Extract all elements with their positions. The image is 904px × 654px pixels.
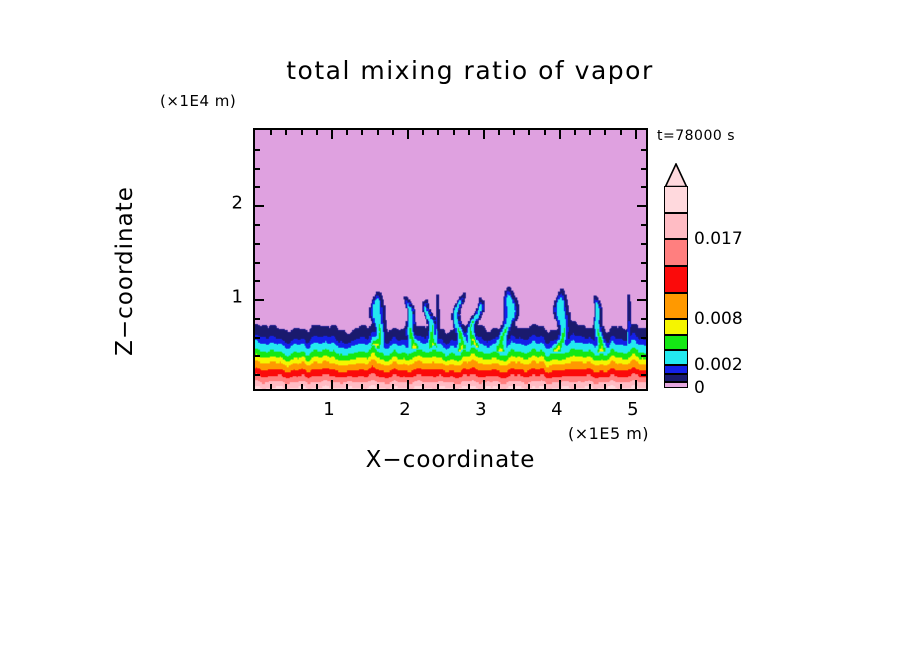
- x-tick-label: 1: [323, 399, 334, 420]
- tick-mark: [468, 384, 470, 389]
- x-tick-label: 2: [399, 399, 410, 420]
- tick-mark: [270, 384, 272, 389]
- tick-mark: [255, 224, 260, 226]
- y-axis-title: Z−coordinate: [112, 141, 138, 401]
- tick-mark: [589, 130, 591, 135]
- tick-mark: [255, 318, 260, 320]
- tick-mark: [641, 243, 646, 245]
- tick-mark: [641, 168, 646, 170]
- colorbar-tick-label: 0.008: [694, 309, 743, 329]
- tick-mark: [453, 384, 455, 389]
- tick-mark: [528, 130, 530, 135]
- tick-mark: [422, 130, 424, 135]
- tick-mark: [270, 130, 272, 135]
- tick-mark: [361, 384, 363, 389]
- tick-mark: [437, 130, 439, 135]
- colorbar-tick-label: 0.017: [694, 229, 743, 249]
- tick-mark: [301, 130, 303, 135]
- tick-mark: [346, 130, 348, 135]
- tick-mark: [255, 186, 260, 188]
- tick-mark: [544, 384, 546, 389]
- x-tick-label: 4: [551, 399, 562, 420]
- tick-mark: [392, 384, 394, 389]
- x-axis-title: X−coordinate: [253, 447, 648, 473]
- tick-mark: [377, 130, 379, 135]
- colorbar-band: [664, 213, 688, 240]
- tick-mark: [641, 337, 646, 339]
- tick-mark: [620, 384, 622, 389]
- colorbar-band: [664, 350, 688, 365]
- tick-mark: [407, 130, 409, 139]
- colorbar-band: [664, 374, 688, 382]
- tick-mark: [407, 380, 409, 389]
- tick-mark: [483, 130, 485, 139]
- tick-mark: [513, 384, 515, 389]
- tick-mark: [641, 355, 646, 357]
- tick-mark: [468, 130, 470, 135]
- tick-mark: [604, 130, 606, 135]
- tick-mark: [301, 384, 303, 389]
- x-tick-label: 5: [627, 399, 638, 420]
- tick-mark: [604, 384, 606, 389]
- colorbar-extend-arrow-icon: [664, 163, 688, 187]
- tick-mark: [641, 224, 646, 226]
- contour-field-canvas: [255, 130, 646, 389]
- colorbar-band: [664, 239, 688, 266]
- y-axis-unit-label: (×1E4 m): [160, 92, 236, 110]
- x-axis-unit-label: (×1E5 m): [568, 424, 649, 443]
- tick-mark: [392, 130, 394, 135]
- tick-mark: [255, 337, 260, 339]
- tick-mark: [637, 299, 646, 301]
- tick-mark: [361, 130, 363, 135]
- tick-mark: [255, 243, 260, 245]
- tick-mark: [589, 384, 591, 389]
- tick-mark: [255, 168, 260, 170]
- colorbar: [664, 186, 688, 388]
- tick-mark: [377, 384, 379, 389]
- page-title: total mixing ratio of vapor: [240, 56, 700, 85]
- tick-mark: [559, 380, 561, 389]
- y-tick-label: 2: [219, 193, 243, 214]
- tick-mark: [641, 318, 646, 320]
- colorbar-band: [664, 335, 688, 350]
- x-tick-label: 3: [475, 399, 486, 420]
- tick-mark: [255, 262, 260, 264]
- colorbar-tick-label: 0.002: [694, 355, 743, 375]
- colorbar-band: [664, 293, 688, 320]
- tick-mark: [641, 149, 646, 151]
- tick-mark: [528, 384, 530, 389]
- tick-mark: [641, 374, 646, 376]
- tick-mark: [346, 384, 348, 389]
- tick-mark: [331, 130, 333, 139]
- plot-area: [253, 128, 648, 391]
- tick-mark: [316, 384, 318, 389]
- timestamp-annotation: t=78000 s: [657, 128, 735, 144]
- tick-mark: [255, 299, 264, 301]
- tick-mark: [483, 380, 485, 389]
- colorbar-band: [664, 365, 688, 373]
- tick-mark: [453, 130, 455, 135]
- colorbar-band: [664, 382, 688, 388]
- tick-mark: [498, 130, 500, 135]
- tick-mark: [437, 384, 439, 389]
- tick-mark: [255, 205, 264, 207]
- tick-mark: [316, 130, 318, 135]
- tick-mark: [641, 262, 646, 264]
- y-tick-label: 1: [219, 287, 243, 308]
- tick-mark: [331, 380, 333, 389]
- tick-mark: [544, 130, 546, 135]
- colorbar-band: [664, 266, 688, 293]
- tick-mark: [635, 130, 637, 139]
- tick-mark: [285, 384, 287, 389]
- tick-mark: [637, 205, 646, 207]
- tick-mark: [641, 280, 646, 282]
- colorbar-tick-label: 0: [694, 378, 705, 398]
- colorbar-band: [664, 319, 688, 334]
- tick-mark: [513, 130, 515, 135]
- tick-mark: [255, 374, 260, 376]
- tick-mark: [620, 130, 622, 135]
- tick-mark: [255, 355, 260, 357]
- tick-mark: [574, 130, 576, 135]
- tick-mark: [498, 384, 500, 389]
- tick-mark: [574, 384, 576, 389]
- tick-mark: [559, 130, 561, 139]
- tick-mark: [635, 380, 637, 389]
- tick-mark: [255, 149, 260, 151]
- tick-mark: [285, 130, 287, 135]
- tick-mark: [641, 186, 646, 188]
- colorbar-band: [664, 186, 688, 213]
- tick-mark: [422, 384, 424, 389]
- tick-mark: [255, 280, 260, 282]
